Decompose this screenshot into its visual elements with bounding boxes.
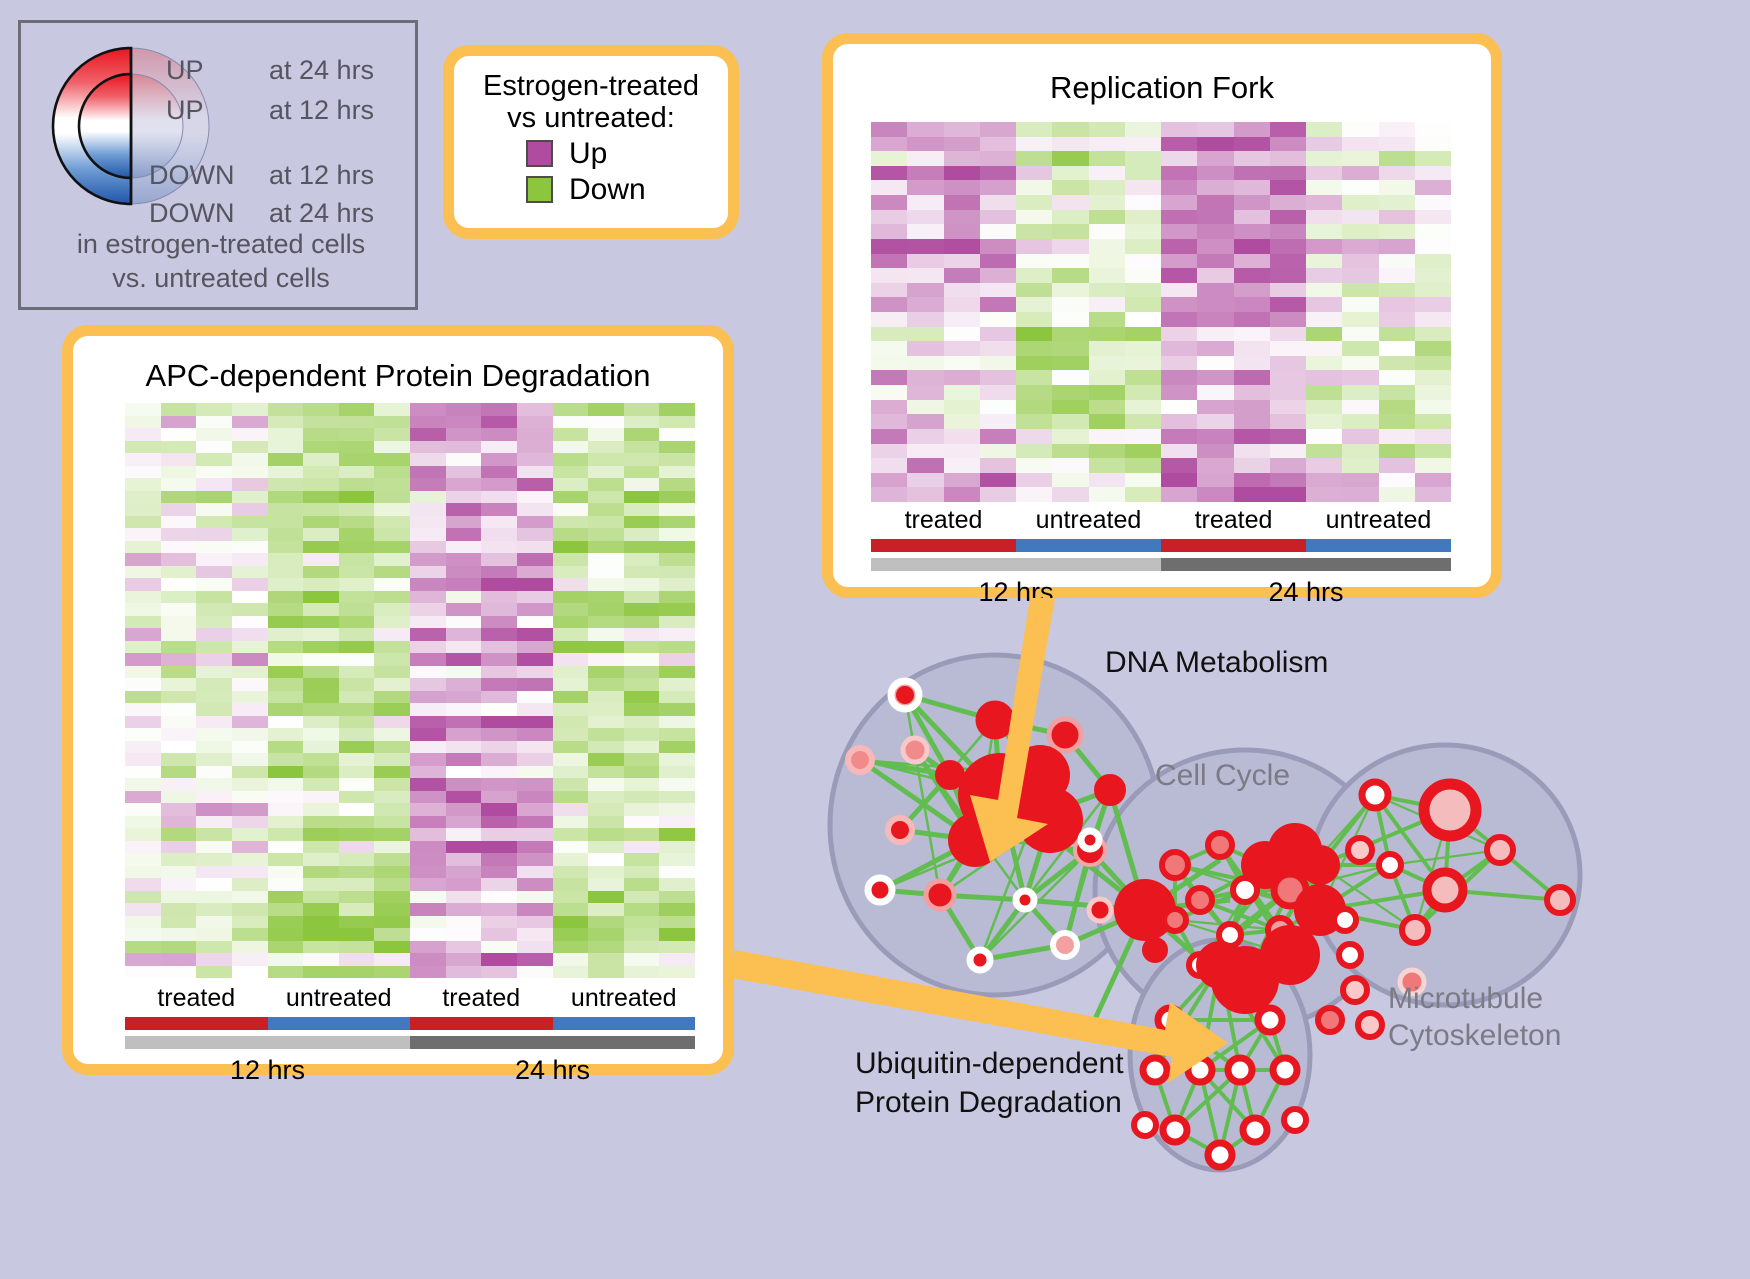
heatmap-cell bbox=[1161, 312, 1197, 327]
heatmap-cell bbox=[481, 741, 517, 754]
heatmap-cell bbox=[481, 428, 517, 441]
heatmap-cell bbox=[659, 903, 695, 916]
heatmap-cell bbox=[339, 628, 375, 641]
heatmap-cell bbox=[1306, 137, 1342, 152]
heatmap-cell bbox=[553, 516, 589, 529]
heatmap-cell bbox=[980, 297, 1016, 312]
heatmap-cell bbox=[410, 941, 446, 954]
heatmap-cell bbox=[268, 566, 304, 579]
heatmap-cell bbox=[196, 516, 232, 529]
heatmap-cell bbox=[446, 741, 482, 754]
heatmap-cell bbox=[1052, 254, 1088, 269]
heatmap-cell bbox=[303, 878, 339, 891]
heatmap-cell bbox=[1379, 356, 1415, 371]
heatmap-cell bbox=[481, 878, 517, 891]
heatmap-cell bbox=[944, 224, 980, 239]
heatmap-cell bbox=[659, 578, 695, 591]
heatmap-cell bbox=[410, 953, 446, 966]
heatmap-cell bbox=[303, 466, 339, 479]
heatmap-cell bbox=[1306, 166, 1342, 181]
heatmap-cell bbox=[1270, 195, 1306, 210]
heatmap-cell bbox=[374, 903, 410, 916]
heatmap-cell bbox=[303, 916, 339, 929]
heatmap-cell bbox=[410, 841, 446, 854]
heatmap-cell bbox=[1342, 400, 1378, 415]
heatmap-cell bbox=[339, 466, 375, 479]
heatmap-cell bbox=[588, 591, 624, 604]
heatmap-cell bbox=[553, 753, 589, 766]
heatmap-cell bbox=[339, 728, 375, 741]
heatmap-cell bbox=[374, 766, 410, 779]
heatmap-cell bbox=[553, 416, 589, 429]
heatmap-cell bbox=[446, 728, 482, 741]
heatmap-cell bbox=[481, 891, 517, 904]
heatmap-cell bbox=[196, 803, 232, 816]
heatmap-cell bbox=[196, 766, 232, 779]
heatmap-cell bbox=[374, 478, 410, 491]
heatmap-cell bbox=[339, 566, 375, 579]
heatmap-cell bbox=[1125, 414, 1161, 429]
heatmap-cell bbox=[125, 441, 161, 454]
heatmap-cell bbox=[161, 878, 197, 891]
heatmap-cell bbox=[871, 487, 907, 502]
apc-bar-untreated-24 bbox=[553, 1017, 696, 1030]
heatmap-cell bbox=[232, 653, 268, 666]
heatmap-cell bbox=[125, 791, 161, 804]
heatmap-cell bbox=[1016, 297, 1052, 312]
heatmap-cell bbox=[871, 254, 907, 269]
heatmap-cell bbox=[161, 716, 197, 729]
heatmap-cell bbox=[339, 591, 375, 604]
heatmap-cell bbox=[374, 403, 410, 416]
heatmap-cell bbox=[1234, 239, 1270, 254]
heatmap-cell bbox=[1342, 444, 1378, 459]
heatmap-cell bbox=[1161, 268, 1197, 283]
heatmap-cell bbox=[980, 327, 1016, 342]
heatmap-cell bbox=[624, 566, 660, 579]
heatmap-cell bbox=[125, 466, 161, 479]
heatmap-cell bbox=[268, 853, 304, 866]
heatmap-cell bbox=[410, 778, 446, 791]
heatmap-cell bbox=[1089, 122, 1125, 137]
heatmap-cell bbox=[303, 728, 339, 741]
heatmap-cell bbox=[1415, 254, 1451, 269]
heatmap-cell bbox=[196, 816, 232, 829]
heatmap-cell bbox=[1197, 370, 1233, 385]
heatmap-cell bbox=[980, 400, 1016, 415]
heatmap-cell bbox=[1197, 254, 1233, 269]
heatmap-cell bbox=[125, 716, 161, 729]
heatmap-cell bbox=[1379, 283, 1415, 298]
scale-row-0-time: at 24 hrs bbox=[269, 55, 374, 85]
heatmap-cell bbox=[232, 453, 268, 466]
heatmap-cell bbox=[1161, 137, 1197, 152]
heatmap-cell bbox=[196, 941, 232, 954]
heatmap-cell bbox=[125, 966, 161, 979]
heatmap-cell bbox=[125, 428, 161, 441]
heatmap-cell bbox=[161, 778, 197, 791]
heatmap-cell bbox=[1125, 429, 1161, 444]
heatmap-cell bbox=[517, 903, 553, 916]
heatmap-cell bbox=[517, 416, 553, 429]
heatmap-cell bbox=[553, 866, 589, 879]
heatmap-cell bbox=[303, 541, 339, 554]
rf-group-labels: treated untreated treated untreated bbox=[871, 506, 1451, 535]
heatmap-cell bbox=[1234, 224, 1270, 239]
heatmap-cell bbox=[1197, 297, 1233, 312]
heatmap-cell bbox=[303, 966, 339, 979]
heatmap-cell bbox=[659, 866, 695, 879]
heatmap-cell bbox=[125, 541, 161, 554]
heatmap-cell bbox=[268, 478, 304, 491]
heatmap-cell bbox=[1306, 400, 1342, 415]
heatmap-cell bbox=[517, 453, 553, 466]
heatmap-cell bbox=[944, 356, 980, 371]
heatmap-cell bbox=[1342, 341, 1378, 356]
heatmap-cell bbox=[1089, 268, 1125, 283]
heatmap-cell bbox=[339, 853, 375, 866]
heatmap-cell bbox=[980, 122, 1016, 137]
heatmap-cell bbox=[944, 429, 980, 444]
heatmap-cell bbox=[125, 941, 161, 954]
heatmap-cell bbox=[303, 566, 339, 579]
heatmap-cell bbox=[624, 516, 660, 529]
heatmap-cell bbox=[410, 641, 446, 654]
heatmap-cell bbox=[659, 428, 695, 441]
heatmap-cell bbox=[374, 803, 410, 816]
heatmap-cell bbox=[1089, 458, 1125, 473]
heatmap-cell bbox=[907, 283, 943, 298]
heatmap-cell bbox=[446, 666, 482, 679]
heatmap-cell bbox=[303, 853, 339, 866]
heatmap-cell bbox=[410, 791, 446, 804]
heatmap-cell bbox=[1197, 224, 1233, 239]
rf-group-label-0: treated bbox=[871, 506, 1016, 535]
heatmap-cell bbox=[588, 828, 624, 841]
heatmap-cell bbox=[232, 778, 268, 791]
heatmap-cell bbox=[1379, 268, 1415, 283]
heatmap-cell bbox=[374, 928, 410, 941]
heatmap-cell bbox=[196, 528, 232, 541]
heatmap-cell bbox=[1270, 444, 1306, 459]
heatmap-cell bbox=[374, 916, 410, 929]
heatmap-cell bbox=[1342, 414, 1378, 429]
heatmap-cell bbox=[232, 803, 268, 816]
heatmap-cell bbox=[1234, 356, 1270, 371]
heatmap-cell bbox=[303, 703, 339, 716]
heatmap-cell bbox=[871, 137, 907, 152]
heatmap-cell bbox=[907, 297, 943, 312]
heatmap-cell bbox=[232, 416, 268, 429]
heatmap-cell bbox=[659, 678, 695, 691]
heatmap-cell bbox=[1089, 414, 1125, 429]
heatmap-cell bbox=[1052, 283, 1088, 298]
heatmap-cell bbox=[1306, 283, 1342, 298]
heatmap-cell bbox=[624, 616, 660, 629]
heatmap-cell bbox=[1052, 151, 1088, 166]
heatmap-cell bbox=[446, 453, 482, 466]
heatmap-cell bbox=[268, 628, 304, 641]
heatmap-cell bbox=[481, 641, 517, 654]
heatmap-cell bbox=[268, 403, 304, 416]
heatmap-cell bbox=[907, 356, 943, 371]
heatmap-cell bbox=[1125, 327, 1161, 342]
heatmap-cell bbox=[1234, 137, 1270, 152]
heatmap-cell bbox=[1016, 458, 1052, 473]
heatmap-cell bbox=[1379, 370, 1415, 385]
heatmap-cell bbox=[481, 703, 517, 716]
heatmap-cell bbox=[1234, 327, 1270, 342]
heatmap-cell bbox=[1052, 385, 1088, 400]
heatmap-cell bbox=[1016, 151, 1052, 166]
heatmap-cell bbox=[303, 791, 339, 804]
heatmap-cell bbox=[232, 766, 268, 779]
heatmap-cell bbox=[659, 728, 695, 741]
heatmap-cell bbox=[659, 641, 695, 654]
heatmap-cell bbox=[517, 691, 553, 704]
heatmap-cell bbox=[232, 753, 268, 766]
heatmap-cell bbox=[553, 728, 589, 741]
heatmap-cell bbox=[196, 566, 232, 579]
heatmap-cell bbox=[481, 853, 517, 866]
heatmap-cell bbox=[125, 591, 161, 604]
heatmap-cell bbox=[1379, 297, 1415, 312]
heatmap-cell bbox=[125, 578, 161, 591]
heatmap-cell bbox=[374, 778, 410, 791]
apc-group-labels: treated untreated treated untreated bbox=[125, 984, 695, 1013]
heatmap-cell bbox=[125, 891, 161, 904]
heatmap-cell bbox=[1270, 341, 1306, 356]
heatmap-cell bbox=[624, 778, 660, 791]
heatmap-cell bbox=[1306, 254, 1342, 269]
heatmap-cell bbox=[980, 239, 1016, 254]
heatmap-cell bbox=[1234, 458, 1270, 473]
heatmap-cell bbox=[980, 210, 1016, 225]
heatmap-cell bbox=[1415, 370, 1451, 385]
heatmap-cell bbox=[517, 466, 553, 479]
heatmap-cell bbox=[232, 816, 268, 829]
heatmap-cell bbox=[303, 891, 339, 904]
heatmap-cell bbox=[410, 428, 446, 441]
heatmap-cell bbox=[1342, 473, 1378, 488]
heatmap-cell bbox=[980, 429, 1016, 444]
heatmap-cell bbox=[588, 716, 624, 729]
heatmap-cell bbox=[196, 841, 232, 854]
heatmap-cell bbox=[553, 841, 589, 854]
heatmap-cell bbox=[374, 753, 410, 766]
heatmap-cell bbox=[624, 441, 660, 454]
heatmap-cell bbox=[624, 666, 660, 679]
heatmap-cell bbox=[1161, 429, 1197, 444]
heatmap-cell bbox=[1161, 414, 1197, 429]
heatmap-cell bbox=[232, 866, 268, 879]
heatmap-cell bbox=[1306, 414, 1342, 429]
heatmap-cell bbox=[1415, 458, 1451, 473]
heatmap-cell bbox=[659, 503, 695, 516]
heatmap-cell bbox=[907, 400, 943, 415]
heatmap-cell bbox=[481, 678, 517, 691]
scale-row-1-time: at 12 hrs bbox=[269, 95, 374, 125]
heatmap-cell bbox=[481, 716, 517, 729]
heatmap-cell bbox=[161, 566, 197, 579]
heatmap-cell bbox=[1234, 297, 1270, 312]
heatmap-cell bbox=[1125, 195, 1161, 210]
apc-panel: APC-dependent Protein Degradation treate… bbox=[62, 325, 734, 1075]
heatmap-cell bbox=[553, 828, 589, 841]
heatmap-cell bbox=[232, 953, 268, 966]
heatmap-cell bbox=[1161, 487, 1197, 502]
heatmap-cell bbox=[125, 491, 161, 504]
heatmap-cell bbox=[481, 541, 517, 554]
key-item-up-label: Up bbox=[569, 137, 607, 171]
cluster-label-cell-cycle: Cell Cycle bbox=[1155, 759, 1290, 792]
heatmap-cell bbox=[1342, 268, 1378, 283]
heatmap-cell bbox=[1016, 327, 1052, 342]
heatmap-cell bbox=[553, 428, 589, 441]
heatmap-cell bbox=[1415, 400, 1451, 415]
heatmap-cell bbox=[446, 866, 482, 879]
heatmap-cell bbox=[268, 816, 304, 829]
heatmap-cell bbox=[268, 441, 304, 454]
heatmap-cell bbox=[553, 678, 589, 691]
heatmap-cell bbox=[268, 916, 304, 929]
scale-row-2-time-wrap: at 12 hrs bbox=[269, 160, 374, 191]
heatmap-cell bbox=[624, 653, 660, 666]
heatmap-cell bbox=[871, 341, 907, 356]
heatmap-cell bbox=[517, 716, 553, 729]
heatmap-cell bbox=[1089, 429, 1125, 444]
heatmap-cell bbox=[161, 891, 197, 904]
heatmap-cell bbox=[553, 453, 589, 466]
scale-row-3-time-wrap: at 24 hrs bbox=[269, 198, 374, 229]
heatmap-cell bbox=[1342, 487, 1378, 502]
heatmap-cell bbox=[339, 691, 375, 704]
heatmap-cell bbox=[232, 478, 268, 491]
heatmap-cell bbox=[1234, 385, 1270, 400]
heatmap-cell bbox=[1161, 151, 1197, 166]
heatmap-cell bbox=[1161, 327, 1197, 342]
heatmap-cell bbox=[871, 356, 907, 371]
heatmap-cell bbox=[517, 916, 553, 929]
heatmap-cell bbox=[196, 653, 232, 666]
heatmap-cell bbox=[944, 166, 980, 181]
heatmap-cell bbox=[268, 603, 304, 616]
heatmap-cell bbox=[517, 491, 553, 504]
heatmap-cell bbox=[303, 841, 339, 854]
heatmap-cell bbox=[268, 678, 304, 691]
heatmap-cell bbox=[1270, 312, 1306, 327]
heatmap-cell bbox=[944, 385, 980, 400]
heatmap-cell bbox=[624, 816, 660, 829]
heatmap-cell bbox=[161, 816, 197, 829]
heatmap-cell bbox=[1016, 137, 1052, 152]
heatmap-cell bbox=[1089, 239, 1125, 254]
heatmap-cell bbox=[303, 828, 339, 841]
heatmap-cell bbox=[624, 578, 660, 591]
heatmap-cell bbox=[588, 703, 624, 716]
heatmap-cell bbox=[907, 195, 943, 210]
heatmap-cell bbox=[268, 541, 304, 554]
heatmap-cell bbox=[588, 491, 624, 504]
heatmap-cell bbox=[303, 516, 339, 529]
heatmap-cell bbox=[446, 903, 482, 916]
heatmap-cell bbox=[232, 591, 268, 604]
heatmap-cell bbox=[196, 466, 232, 479]
heatmap-cell bbox=[588, 616, 624, 629]
heatmap-cell bbox=[481, 841, 517, 854]
heatmap-cell bbox=[125, 828, 161, 841]
heatmap-cell bbox=[944, 487, 980, 502]
heatmap-cell bbox=[481, 903, 517, 916]
heatmap-cell bbox=[517, 766, 553, 779]
heatmap-cell bbox=[1342, 297, 1378, 312]
heatmap-cell bbox=[1379, 327, 1415, 342]
heatmap-cell bbox=[339, 653, 375, 666]
heatmap-cell bbox=[410, 566, 446, 579]
heatmap-cell bbox=[871, 473, 907, 488]
heatmap-cell bbox=[1379, 400, 1415, 415]
heatmap-cell bbox=[1306, 458, 1342, 473]
heatmap-cell bbox=[268, 778, 304, 791]
heatmap-cell bbox=[410, 416, 446, 429]
heatmap-cell bbox=[517, 928, 553, 941]
heatmap-cell bbox=[553, 816, 589, 829]
apc-heatmap bbox=[125, 403, 695, 978]
heatmap-cell bbox=[374, 466, 410, 479]
heatmap-cell bbox=[1415, 210, 1451, 225]
heatmap-cell bbox=[374, 616, 410, 629]
heatmap-cell bbox=[517, 853, 553, 866]
heatmap-cell bbox=[1306, 210, 1342, 225]
heatmap-cell bbox=[980, 166, 1016, 181]
heatmap-cell bbox=[410, 491, 446, 504]
heatmap-cell bbox=[944, 210, 980, 225]
heatmap-cell bbox=[446, 466, 482, 479]
heatmap-cell bbox=[232, 791, 268, 804]
heatmap-cell bbox=[481, 566, 517, 579]
heatmap-cell bbox=[339, 553, 375, 566]
heatmap-cell bbox=[446, 941, 482, 954]
heatmap-cell bbox=[944, 254, 980, 269]
heatmap-cell bbox=[1197, 356, 1233, 371]
heatmap-cell bbox=[907, 327, 943, 342]
heatmap-cell bbox=[1270, 327, 1306, 342]
heatmap-cell bbox=[907, 341, 943, 356]
heatmap-cell bbox=[303, 503, 339, 516]
heatmap-cell bbox=[980, 341, 1016, 356]
color-scale-legend: UP at 24 hrs UP at 12 hrs DOWN at 12 hrs… bbox=[18, 20, 418, 310]
heatmap-cell bbox=[871, 166, 907, 181]
heatmap-cell bbox=[339, 953, 375, 966]
heatmap-cell bbox=[1125, 224, 1161, 239]
heatmap-cell bbox=[1234, 210, 1270, 225]
apc-axis: treated untreated treated untreated 12 h… bbox=[125, 984, 695, 1086]
heatmap-cell bbox=[481, 441, 517, 454]
heatmap-cell bbox=[481, 416, 517, 429]
heatmap-cell bbox=[588, 653, 624, 666]
heatmap-cell bbox=[659, 791, 695, 804]
heatmap-cell bbox=[481, 803, 517, 816]
heatmap-cell bbox=[303, 753, 339, 766]
heatmap-cell bbox=[1197, 210, 1233, 225]
heatmap-cell bbox=[659, 766, 695, 779]
heatmap-cell bbox=[1052, 473, 1088, 488]
heatmap-cell bbox=[659, 591, 695, 604]
heatmap-cell bbox=[1125, 283, 1161, 298]
heatmap-cell bbox=[871, 385, 907, 400]
heatmap-cell bbox=[1161, 473, 1197, 488]
heatmap-cell bbox=[624, 828, 660, 841]
